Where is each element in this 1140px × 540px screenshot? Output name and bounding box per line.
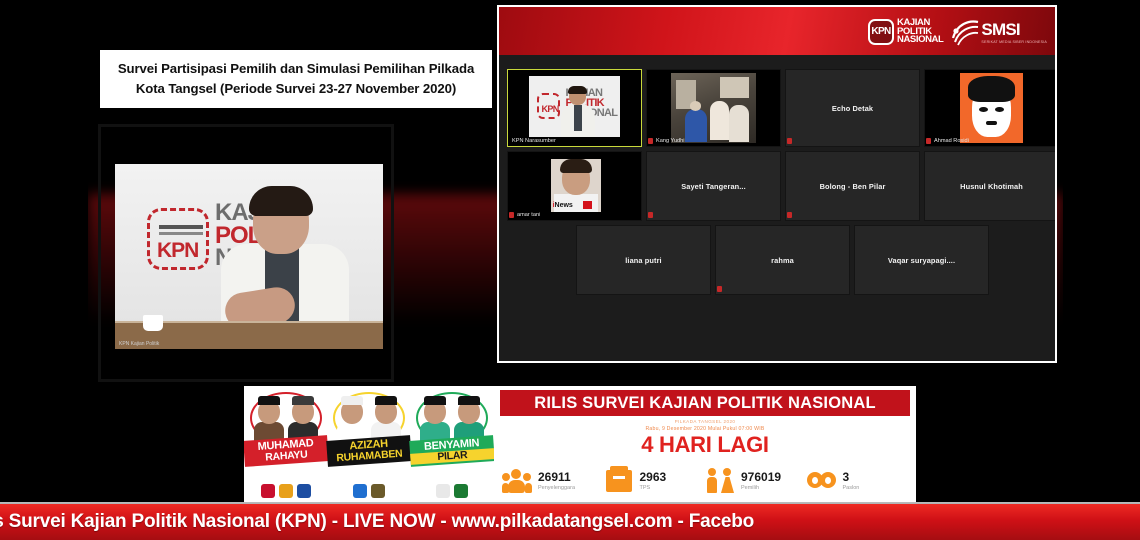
presenter-window-inner: KPN KAJIAN POLITIK NASIONAL KPN Kajian P… [101, 127, 391, 379]
candidate-pair-0: MUHAMAD RAHAYU [244, 386, 327, 504]
slide-title-text: Survei Partisipasi Pemilih dan Simulasi … [118, 59, 474, 99]
participant-name-8: liana putri [577, 226, 710, 294]
participant-name-3: Ahmad Rosidi [934, 138, 969, 144]
stat-item-0: 26911 Penyelenggara [502, 460, 604, 502]
participant-tile-10[interactable]: Vaqar suryapagi.... [854, 225, 989, 295]
participant-name-5: Sayeti Tangeran... [647, 152, 780, 220]
voters-icon [705, 468, 735, 494]
countdown-big: 4 HARI LAGI [494, 432, 916, 458]
participant-tile-1[interactable]: Kang Yudhi [646, 69, 781, 147]
stat-label-2: Pemilih [741, 485, 781, 491]
participant-name-0: KPN Narasumber [512, 138, 556, 144]
kpn-logo-icon: KPN [147, 208, 209, 270]
participant-video-4: iNews [508, 152, 641, 220]
news-ticker: ilis Survei Kajian Politik Nasional (KPN… [0, 504, 1140, 540]
stat-value-0: 26911 [538, 471, 575, 483]
mute-icon [648, 138, 653, 144]
pair-icon [807, 468, 837, 494]
participant-tile-4[interactable]: iNews amar tani [507, 151, 642, 221]
video-conference-panel[interactable]: KPN KAJIAN POLITIK NASIONAL [497, 5, 1057, 363]
presenter-name-label: KPN Kajian Politik [119, 341, 159, 347]
mute-icon [648, 212, 653, 218]
participant-avatar-3 [925, 70, 1057, 146]
candidate-1-parties [353, 484, 385, 498]
stat-label-0: Penyelenggara [538, 485, 575, 491]
participant-name-1: Kang Yudhi [656, 138, 685, 144]
participant-video-1 [647, 70, 780, 146]
ballot-box-icon [604, 468, 634, 494]
participant-tile-0[interactable]: KPN KAJIANPOLITIKNASIONAL KPN Narasumber [507, 69, 642, 147]
presenter-scene: KPN KAJIAN POLITIK NASIONAL KPN Kajian P… [115, 164, 383, 349]
kpn-line3: NASIONAL [897, 36, 943, 45]
smsi-text: SMSI [981, 20, 1019, 39]
participant-name-4: amar tani [517, 212, 540, 218]
lower-third-banner: MUHAMAD RAHAYU AZIZAH RUHAMABEN [244, 386, 916, 504]
conference-header-bar: KPN KAJIAN POLITIK NASIONAL [499, 7, 1055, 55]
smsi-subtext: SERIKAT MEDIA SIBER INDONESIA [981, 40, 1047, 44]
smsi-logo-icon: SMSI SERIKAT MEDIA SIBER INDONESIA [949, 18, 1047, 46]
participant-name-10: Vaqar suryapagi.... [855, 226, 988, 294]
participant-tile-6[interactable]: Bolong - Ben Pilar [785, 151, 920, 221]
participant-tile-7[interactable]: Husnul Khotimah [924, 151, 1057, 221]
stat-value-3: 3 [843, 471, 860, 483]
mute-icon [509, 212, 514, 218]
candidate-0-parties [261, 484, 311, 498]
stats-panel: RILIS SURVEI KAJIAN POLITIK NASIONAL PIL… [494, 386, 916, 504]
mute-icon [717, 286, 722, 292]
letterbox-right [1063, 0, 1140, 540]
stat-item-2: 976019 Pemilih [705, 460, 807, 502]
stat-value-1: 2963 [640, 471, 667, 483]
participant-name-2: Echo Detak [786, 70, 919, 146]
stat-item-3: 3 Paslon [807, 460, 909, 502]
stat-label-1: TPS [640, 485, 667, 491]
slide-title-line2: Kota Tangsel (Periode Survei 23-27 Novem… [136, 81, 456, 96]
participant-name-6: Bolong - Ben Pilar [786, 152, 919, 220]
kpn-abbr-text: KPN [157, 239, 198, 263]
people-icon [502, 468, 532, 494]
stats-row: 26911 Penyelenggara 2963 TPS [502, 460, 908, 502]
participant-name-7: Husnul Khotimah [925, 152, 1057, 220]
candidate-pair-1: AZIZAH RUHAMABEN [327, 386, 410, 504]
conference-logos: KPN KAJIAN POLITIK NASIONAL [868, 13, 1047, 51]
ticker-text: ilis Survei Kajian Politik Nasional (KPN… [0, 511, 754, 533]
candidates-strip: MUHAMAD RAHAYU AZIZAH RUHAMABEN [244, 386, 494, 504]
letterbox-left [0, 0, 88, 540]
participant-name-9: rahma [716, 226, 849, 294]
stat-label-3: Paslon [843, 485, 860, 491]
candidate-pair-2: BENYAMIN PILAR [411, 386, 494, 504]
presenter-video: KPN KAJIAN POLITIK NASIONAL KPN Kajian P… [115, 164, 383, 349]
smsi-swoosh-icon [949, 18, 979, 46]
participant-grid: KPN KAJIANPOLITIKNASIONAL KPN Narasumber… [499, 55, 1055, 361]
countdown-kicker: PILKADA TANGSEL 2020 [494, 419, 916, 424]
mute-icon [926, 138, 931, 144]
participant-tile-3[interactable]: Ahmad Rosidi [924, 69, 1057, 147]
slide-title-card: Survei Partisipasi Pemilih dan Simulasi … [100, 50, 492, 108]
mute-icon [787, 212, 792, 218]
mute-icon [787, 138, 792, 144]
stats-title: RILIS SURVEI KAJIAN POLITIK NASIONAL [534, 394, 876, 413]
stat-value-2: 976019 [741, 471, 781, 483]
candidate-2-parties [436, 484, 468, 498]
participant-tile-8[interactable]: liana putri [576, 225, 711, 295]
stat-item-1: 2963 TPS [604, 460, 706, 502]
slide-title-line1: Survei Partisipasi Pemilih dan Simulasi … [118, 61, 474, 76]
avatar [960, 73, 1024, 143]
inews-logo-icon: iNews [553, 202, 573, 209]
participant-tile-2[interactable]: Echo Detak [785, 69, 920, 147]
kpn-abbr-text: KPN [871, 26, 890, 37]
participant-tile-9[interactable]: rahma [715, 225, 850, 295]
stats-title-bar: RILIS SURVEI KAJIAN POLITIK NASIONAL [500, 390, 910, 416]
kpn-logo-icon: KPN KAJIAN POLITIK NASIONAL [868, 19, 943, 45]
participant-tile-5[interactable]: Sayeti Tangeran... [646, 151, 781, 221]
participant-video-0: KPN KAJIANPOLITIKNASIONAL [508, 70, 641, 146]
presenter-window[interactable]: KPN KAJIAN POLITIK NASIONAL KPN Kajian P… [98, 124, 394, 382]
broadcast-stage: Survei Partisipasi Pemilih dan Simulasi … [0, 0, 1140, 540]
